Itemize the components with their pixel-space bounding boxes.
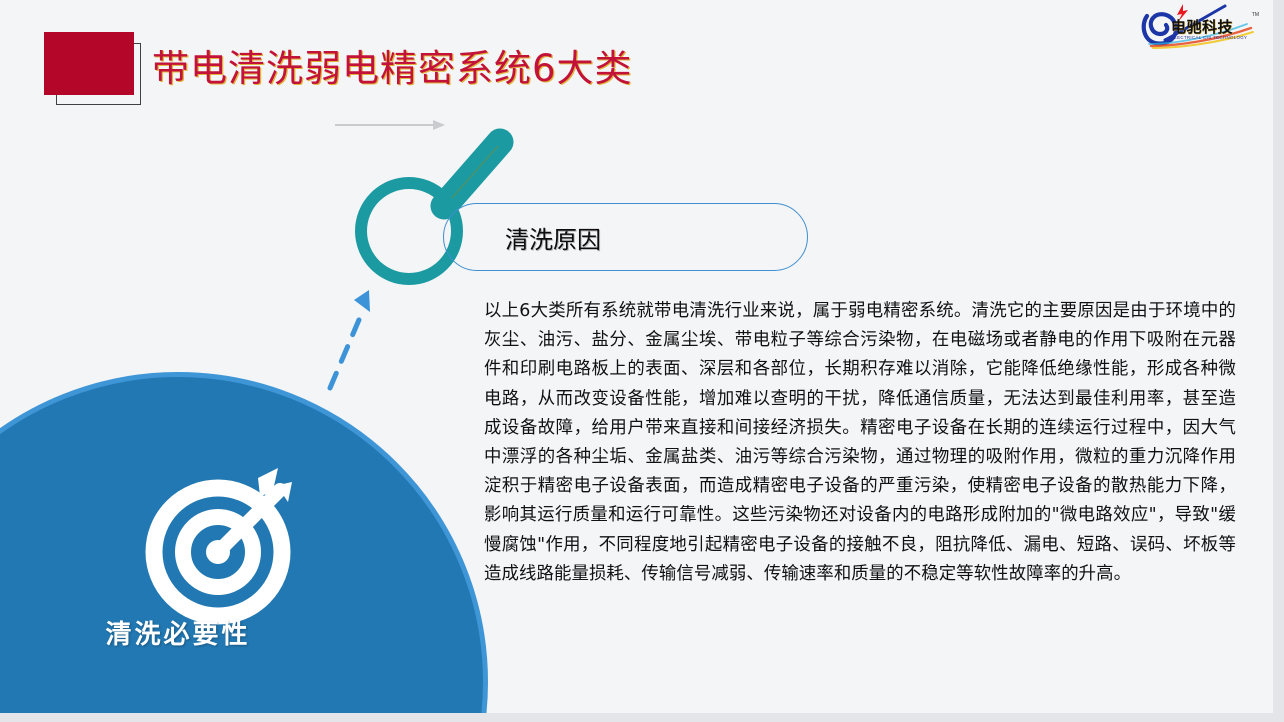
title-square-accent bbox=[44, 32, 134, 95]
logo-name-cn: 电驰科技 bbox=[1171, 16, 1233, 37]
presentation-slide: 电驰科技 ELECTRICAL CHI TECHNOLOGY TM 带电清洗弱电… bbox=[0, 0, 1273, 713]
logo-trademark: TM bbox=[1252, 12, 1259, 18]
body-paragraph: 以上6大类所有系统就带电清洗行业来说，属于弱电精密系统。清洗它的主要原因是由于环… bbox=[484, 297, 1236, 589]
company-logo: 电驰科技 ELECTRICAL CHI TECHNOLOGY TM bbox=[1139, 2, 1259, 52]
necessity-dome: 清洗必要性 bbox=[0, 372, 488, 713]
target-arrow-icon bbox=[140, 460, 310, 630]
dome-label: 清洗必要性 bbox=[0, 614, 488, 651]
callout-label: 清洗原因 bbox=[505, 220, 601, 255]
logo-name-en: ELECTRICAL CHI TECHNOLOGY bbox=[1171, 35, 1247, 40]
callout-pill[interactable] bbox=[443, 203, 808, 271]
page-title: 带电清洗弱电精密系统6大类 bbox=[152, 38, 633, 92]
